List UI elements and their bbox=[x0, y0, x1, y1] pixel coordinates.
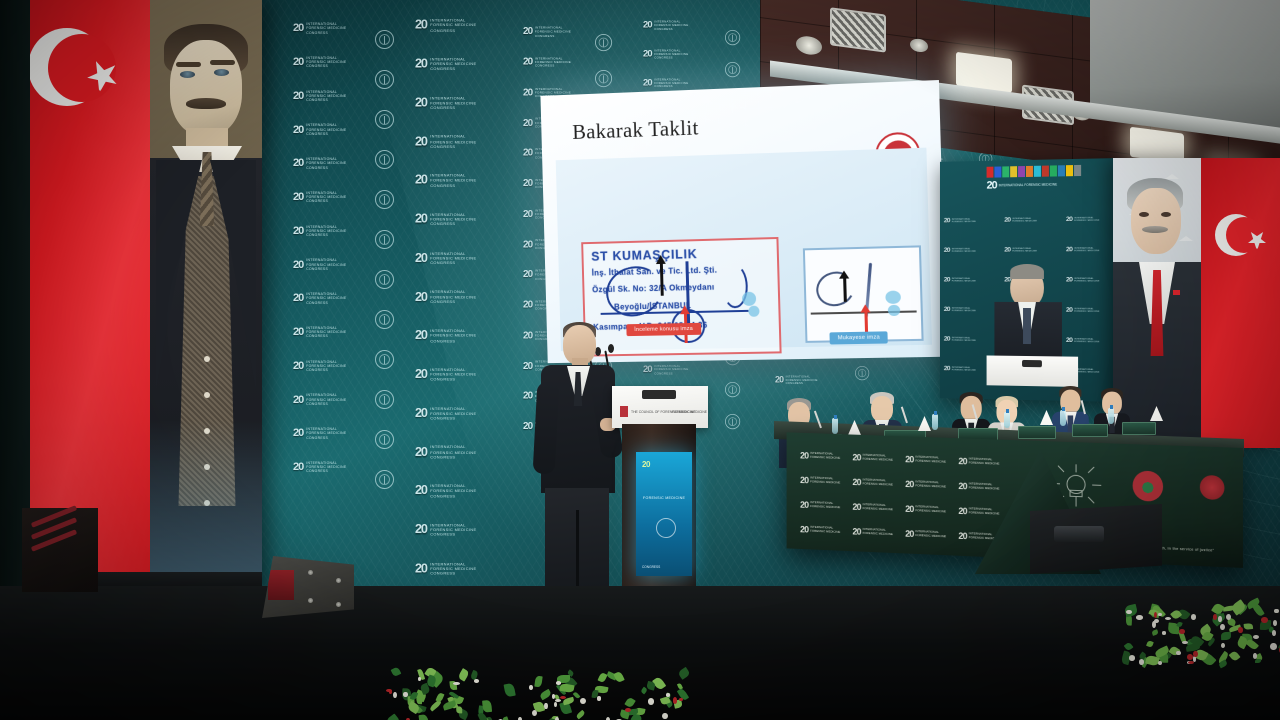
podium-display-number: 20 bbox=[642, 460, 650, 469]
flower-bud bbox=[1158, 613, 1162, 616]
logo-number: 20 bbox=[415, 407, 427, 421]
logo-text: INTERNATIONALFORENSIC MEDICINECONGRESS bbox=[306, 258, 346, 271]
panelist-nameplate bbox=[1122, 422, 1156, 435]
backdrop-seal-icon bbox=[375, 350, 394, 369]
logo-text: INTERNATIONALFORENSIC MEDICINECONGRESS bbox=[306, 56, 346, 69]
logo-text: INTERNATIONALFORENSIC MEDICINE bbox=[863, 454, 893, 462]
feed-backdrop-logo: 20INTERNATIONALFORENSIC MEDICINE bbox=[944, 276, 976, 283]
backdrop-congress-logo: 20INTERNATIONALFORENSIC MEDICINECONGRESS bbox=[415, 212, 476, 227]
logo-number: 20 bbox=[905, 529, 913, 539]
equipment-rack bbox=[22, 508, 98, 592]
flag-icon bbox=[1058, 165, 1065, 176]
monitor-bolt bbox=[308, 570, 313, 575]
signature-blob bbox=[748, 306, 759, 317]
podium-lectern-top: THE COUNCIL OF FORENSIC MEDICINE FORENSI… bbox=[612, 386, 708, 428]
foliage-leaf bbox=[442, 700, 456, 710]
logo-number: 20 bbox=[293, 90, 303, 102]
table-congress-logo: 20INTERNATIONALFORENSIC MEDICINE bbox=[852, 452, 892, 463]
floral-arrangement-left bbox=[380, 664, 680, 720]
logo-text: INTERNATIONALFORENSIC MEDICINECONGRESS bbox=[306, 225, 346, 238]
logo-number: 20 bbox=[293, 259, 303, 271]
logo-number: 20 bbox=[800, 500, 808, 510]
signature-blob bbox=[742, 292, 756, 306]
panelist-nameplate bbox=[1072, 424, 1108, 437]
logo-number: 20 bbox=[293, 360, 303, 372]
logo-number: 20 bbox=[293, 394, 303, 406]
feed-backdrop-logo: 20INTERNATIONALFORENSIC MEDICINE bbox=[1066, 276, 1100, 284]
logo-number: 20 bbox=[415, 523, 427, 537]
backdrop-seal-icon bbox=[375, 30, 394, 49]
logo-number: 20 bbox=[523, 148, 532, 159]
table-congress-logo: 20INTERNATIONALFORENSIC MEDICINE bbox=[958, 481, 999, 493]
portrait-eye bbox=[214, 69, 229, 76]
logo-number: 20 bbox=[958, 531, 966, 541]
foliage-leaf bbox=[1255, 659, 1261, 663]
foliage-leaf bbox=[573, 691, 581, 699]
backdrop-seal-icon bbox=[375, 430, 394, 449]
logo-number: 20 bbox=[293, 326, 303, 338]
flag-lapel-pin-icon bbox=[1173, 290, 1180, 295]
flower-bud bbox=[1270, 643, 1276, 650]
logo-number: 20 bbox=[1066, 276, 1072, 284]
water-bottle bbox=[832, 418, 838, 434]
water-bottle bbox=[1060, 410, 1066, 426]
backdrop-congress-logo: 20INTERNATIONALFORENSIC MEDICINECONGRESS bbox=[643, 20, 688, 31]
logo-text: INTERNATIONALFORENSIC MEDICINECONGRESS bbox=[430, 523, 476, 538]
logo-text: INTERNATIONALFORENSIC MEDICINECONGRESS bbox=[430, 57, 476, 72]
backdrop-congress-logo: 20INTERNATIONALFORENSIC MEDICINECONGRESS bbox=[415, 367, 476, 382]
foliage-leaf bbox=[482, 700, 492, 713]
table-congress-logo: 20INTERNATIONALFORENSIC MEDICINE bbox=[905, 454, 946, 465]
table-congress-logo: 20INTERNATIONALFORENSIC MEDICINE bbox=[958, 506, 999, 518]
logo-text: INTERNATIONALFORENSIC MEDICINECONGRESS bbox=[430, 290, 476, 305]
portrait-button bbox=[204, 392, 210, 398]
backdrop-seal-icon bbox=[375, 310, 394, 329]
foliage-leaf bbox=[640, 687, 648, 695]
logo-number: 20 bbox=[415, 251, 427, 265]
logo-number: 20 bbox=[775, 375, 783, 385]
flag-icon bbox=[1018, 166, 1025, 177]
logo-number: 20 bbox=[523, 391, 532, 402]
black-arrow-head-icon bbox=[839, 270, 849, 278]
logo-text: INTERNATIONALFORENSIC MEDICINECONGRESS bbox=[430, 173, 476, 188]
logo-number: 20 bbox=[800, 475, 808, 485]
backdrop-seal-icon bbox=[375, 110, 394, 129]
flower-bud bbox=[1226, 614, 1231, 620]
live-feed-screen: 20 INTERNATIONAL FORENSIC MEDICINE 20INT… bbox=[940, 158, 1115, 402]
star-icon bbox=[1248, 236, 1266, 243]
flower-bud bbox=[1187, 654, 1193, 660]
monitor-bolt bbox=[308, 598, 313, 603]
council-emblem-icon bbox=[1133, 470, 1163, 501]
foliage-leaf bbox=[613, 671, 625, 683]
flower-bud bbox=[418, 677, 421, 682]
flower-bud bbox=[1274, 609, 1279, 614]
conference-hall-scene: 20INTERNATIONALFORENSIC MEDICINECONGRESS… bbox=[0, 0, 1280, 720]
logo-number: 20 bbox=[944, 306, 950, 313]
flower-bud bbox=[1253, 635, 1260, 640]
flower-bud bbox=[1253, 653, 1257, 659]
flower-bud bbox=[1154, 619, 1159, 624]
flag-icon bbox=[1074, 165, 1081, 176]
ataturk-portrait bbox=[150, 0, 262, 600]
water-bottle bbox=[1108, 408, 1114, 424]
water-bottle bbox=[1004, 412, 1010, 428]
logo-text: INTERNATIONALFORENSIC MEDICINECONGRESS bbox=[306, 22, 346, 35]
logo-text: INTERNATIONALFORENSIC MEDICINE bbox=[810, 526, 840, 534]
logo-number: 20 bbox=[415, 18, 427, 32]
logo-text: INTERNATIONALFORENSIC MEDICINECONGRESS bbox=[654, 20, 688, 31]
logo-number: 20 bbox=[523, 178, 532, 189]
logo-number: 20 bbox=[415, 329, 427, 343]
red-arrow-annotation bbox=[864, 311, 868, 331]
black-arrow-head-icon bbox=[656, 255, 666, 264]
foliage-leaf bbox=[1152, 629, 1159, 636]
panelist-head bbox=[871, 396, 893, 422]
logo-text: INTERNATIONALFORENSIC MEDICINE bbox=[952, 366, 976, 372]
logo-text: INTERNATIONALFORENSIC MEDICINECONGRESS bbox=[306, 90, 346, 103]
flower-bud bbox=[1129, 655, 1136, 661]
backdrop-seal-icon bbox=[375, 390, 394, 409]
logo-text: INTERNATIONALFORENSIC MEDICINECONGRESS bbox=[535, 26, 571, 37]
president-moustache bbox=[1142, 226, 1168, 233]
logo-number: 20 bbox=[800, 524, 808, 534]
feed-backdrop-logo: 20INTERNATIONALFORENSIC MEDICINE bbox=[1004, 216, 1037, 224]
logo-number: 20 bbox=[523, 57, 532, 68]
logo-text: INTERNATIONALFORENSIC MEDICINE bbox=[1012, 247, 1037, 252]
logo-number: 20 bbox=[415, 290, 427, 304]
logo-text: INTERNATIONALFORENSIC MEDICINE bbox=[1074, 307, 1099, 312]
logo-number: 20 bbox=[1066, 306, 1072, 314]
logo-number: 20 bbox=[852, 477, 860, 487]
logo-number: 20 bbox=[523, 87, 532, 98]
backdrop-congress-logo: 20INTERNATIONALFORENSIC MEDICINECONGRESS bbox=[415, 96, 476, 111]
logo-number: 20 bbox=[415, 57, 427, 71]
logo-number: 20 bbox=[415, 96, 427, 110]
backdrop-congress-logo: 20INTERNATIONALFORENSIC MEDICINECONGRESS bbox=[643, 77, 688, 88]
feed-backdrop-logo: 20INTERNATIONALFORENSIC MEDICINE bbox=[944, 217, 976, 225]
flower-bud bbox=[1158, 661, 1162, 665]
logo-text: INTERNATIONALFORENSIC MEDICINECONGRESS bbox=[430, 445, 476, 460]
table-congress-logo: 20INTERNATIONALFORENSIC MEDICINE bbox=[905, 479, 946, 490]
logo-number: 20 bbox=[852, 502, 860, 512]
flower-bud bbox=[673, 697, 678, 704]
foliage-leaf bbox=[539, 689, 552, 701]
logo-number: 20 bbox=[958, 506, 966, 516]
feed-speaker-tie bbox=[1023, 308, 1031, 344]
logo-text: INTERNATIONALFORENSIC MEDICINE bbox=[810, 477, 840, 485]
backdrop-congress-logo: 20INTERNATIONALFORENSIC MEDICINECONGRESS bbox=[415, 18, 476, 33]
feed-backdrop-logo: 20INTERNATIONALFORENSIC MEDICINE bbox=[944, 365, 976, 373]
stage-monitor-left bbox=[262, 556, 354, 618]
podium-nameplate bbox=[642, 390, 676, 399]
backdrop-congress-logo: 20INTERNATIONALFORENSIC MEDICINECONGRESS bbox=[293, 90, 346, 103]
flower-bud bbox=[1126, 610, 1132, 614]
backdrop-congress-logo: 20INTERNATIONALFORENSIC MEDICINECONGRESS bbox=[415, 484, 476, 499]
logo-number: 20 bbox=[643, 365, 652, 375]
logo-number: 20 bbox=[415, 212, 427, 226]
right-banner-president bbox=[1113, 158, 1280, 448]
backdrop-congress-logo: 20INTERNATIONALFORENSIC MEDICINECONGRESS bbox=[415, 445, 476, 460]
feed-congress-logo: 20 INTERNATIONAL FORENSIC MEDICINE bbox=[987, 164, 1107, 212]
logo-text: INTERNATIONALFORENSIC MEDICINE bbox=[810, 502, 840, 510]
monitor-grille bbox=[268, 570, 294, 600]
monitor-bolt bbox=[336, 578, 341, 583]
flag-icon bbox=[1042, 166, 1049, 177]
feed-backdrop-logo: 20INTERNATIONALFORENSIC MEDICINE bbox=[1066, 306, 1100, 314]
ceiling-vent-icon bbox=[830, 7, 886, 52]
foliage-leaf bbox=[418, 714, 429, 720]
flower-bud bbox=[1218, 616, 1221, 621]
flower-bud bbox=[1176, 651, 1180, 655]
logo-number: 20 bbox=[958, 481, 966, 491]
portrait-brow bbox=[210, 60, 235, 65]
logo-text: INTERNATIONALFORENSIC MEDICINECONGRESS bbox=[430, 134, 476, 149]
backdrop-congress-logo: 20INTERNATIONALFORENSIC MEDICINECONGRESS bbox=[293, 157, 346, 170]
logo-number: 20 bbox=[1066, 336, 1072, 344]
backdrop-congress-logo: 20INTERNATIONALFORENSIC MEDICINECONGRESS bbox=[415, 561, 476, 576]
slide-body: ST KUMAŞÇILIK İnş. İthalat San. ve Tic. … bbox=[556, 148, 932, 352]
flower-bud bbox=[529, 685, 533, 689]
logo-number: 20 bbox=[523, 421, 532, 432]
logo-number: 20 bbox=[1004, 216, 1010, 223]
logo-text: INTERNATIONALFORENSIC MEDICINECONGRESS bbox=[306, 157, 346, 170]
ministry-emblem-icon bbox=[1200, 475, 1225, 500]
logo-number: 20 bbox=[643, 20, 652, 30]
logo-text: INTERNATIONALFORENSIC MEDICINECONGRESS bbox=[306, 292, 346, 305]
feed-logo-number: 20 bbox=[987, 180, 997, 192]
logo-text: INTERNATIONALFORENSIC MEDICINE bbox=[915, 530, 946, 538]
backdrop-seal-icon bbox=[725, 30, 740, 45]
podium-display-text: FORENSIC MEDICINE bbox=[643, 496, 685, 500]
microphone-head-icon bbox=[608, 344, 614, 353]
logo-text: INTERNATIONALFORENSIC MEDICINECONGRESS bbox=[430, 484, 476, 499]
backdrop-congress-logo: 20INTERNATIONALFORENSIC MEDICINECONGRESS bbox=[415, 134, 476, 149]
logo-text: INTERNATIONALFORENSIC MEDICINE bbox=[863, 479, 893, 487]
foliage-leaf bbox=[435, 692, 444, 703]
backdrop-congress-logo: 20INTERNATIONALFORENSIC MEDICINECONGRESS bbox=[293, 258, 346, 271]
table-congress-logo: 20INTERNATIONALFORENSIC MEDICINE bbox=[800, 450, 840, 461]
logo-text: INTERNATIONALFORENSIC MEDICINECONGRESS bbox=[654, 49, 688, 60]
presentation-slide: Bakarak Taklit ST KUMAŞÇILIK İnş. İthala… bbox=[540, 80, 946, 363]
flag-icon bbox=[1002, 166, 1009, 177]
table-congress-logo: 20INTERNATIONALFORENSIC MEDICINE bbox=[800, 500, 840, 511]
logo-text: INTERNATIONALFORENSIC MEDICINECONGRESS bbox=[306, 393, 346, 406]
logo-text: INTERNATIONALFORENSIC MEDICINE bbox=[952, 247, 976, 252]
flag-icon bbox=[1010, 166, 1017, 177]
turkish-flag-icon bbox=[1201, 158, 1280, 448]
foliage-leaf bbox=[1221, 632, 1231, 640]
logo-text: INTERNATIONALFORENSIC MEDICINECONGRESS bbox=[306, 461, 346, 474]
backdrop-seal-icon bbox=[375, 230, 394, 249]
backdrop-logo-column: 20INTERNATIONALFORENSIC MEDICINECONGRESS… bbox=[293, 22, 346, 474]
backdrop-logo-column: 20INTERNATIONALFORENSIC MEDICINECONGRESS… bbox=[415, 18, 476, 576]
logo-number: 20 bbox=[523, 330, 532, 341]
logo-text: INTERNATIONALFORENSIC MEDICINE bbox=[915, 506, 946, 514]
logo-text: INTERNATIONALFORENSIC MEDICINECONGRESS bbox=[430, 561, 476, 576]
feed-backdrop-logo: 20INTERNATIONALFORENSIC MEDICINE bbox=[944, 246, 976, 254]
backdrop-seal-icon bbox=[725, 62, 740, 77]
flower-bud bbox=[474, 679, 480, 683]
flower-bud bbox=[386, 689, 392, 692]
logo-text: INTERNATIONALFORENSIC MEDICINE bbox=[1074, 277, 1099, 282]
flower-bud bbox=[1188, 661, 1194, 664]
backdrop-congress-logo: 20INTERNATIONALFORENSIC MEDICINECONGRESS bbox=[293, 427, 346, 440]
water-bottle bbox=[932, 414, 938, 430]
logo-number: 20 bbox=[523, 26, 532, 37]
backdrop-congress-logo: 20INTERNATIONALFORENSIC MEDICINECONGRESS bbox=[293, 56, 346, 69]
podium-emblem-icon bbox=[620, 406, 628, 417]
logo-number: 20 bbox=[415, 445, 427, 459]
backdrop-seal-icon bbox=[375, 270, 394, 289]
feed-backdrop-logo: 20INTERNATIONALFORENSIC MEDICINE bbox=[1004, 246, 1037, 254]
logo-text: INTERNATIONALFORENSIC MEDICINE bbox=[952, 218, 976, 223]
foliage-leaf bbox=[503, 682, 516, 697]
flower-bud bbox=[1162, 631, 1167, 635]
flower-bud bbox=[648, 698, 654, 704]
stamp-company: ST KUMAŞÇILIK bbox=[591, 247, 698, 264]
logo-number: 20 bbox=[415, 368, 427, 382]
monitor-port bbox=[1054, 526, 1104, 542]
logo-text: INTERNATIONALFORENSIC MEDICINECONGRESS bbox=[430, 406, 476, 421]
backdrop-congress-logo: 20INTERNATIONALFORENSIC MEDICINECONGRESS bbox=[415, 57, 476, 72]
backdrop-logo-column bbox=[375, 30, 394, 489]
logo-text: INTERNATIONALFORENSIC MEDICINECONGRESS bbox=[535, 56, 571, 67]
logo-number: 20 bbox=[293, 427, 303, 439]
logo-text: INTERNATIONALFORENSIC MEDICINE bbox=[1074, 338, 1099, 344]
flower-bud bbox=[1220, 624, 1225, 631]
flower-bud bbox=[554, 702, 557, 707]
logo-number: 20 bbox=[293, 191, 303, 203]
backdrop-congress-logo: 20INTERNATIONALFORENSIC MEDICINECONGRESS bbox=[775, 375, 818, 385]
logo-number: 20 bbox=[523, 269, 532, 280]
foliage-leaf bbox=[391, 667, 402, 678]
logo-number: 20 bbox=[643, 49, 652, 59]
logo-number: 20 bbox=[800, 450, 808, 460]
flower-bud bbox=[1154, 612, 1157, 619]
logo-number: 20 bbox=[523, 300, 532, 311]
feed-backdrop-logo: 20INTERNATIONALFORENSIC MEDICINE bbox=[1066, 246, 1100, 254]
feed-backdrop-logo: 20INTERNATIONALFORENSIC MEDICINE bbox=[1066, 336, 1100, 344]
foliage-leaf bbox=[458, 668, 470, 681]
speaker-leg-split bbox=[576, 510, 579, 594]
red-arrow-head-icon bbox=[860, 304, 870, 312]
logo-number: 20 bbox=[905, 454, 913, 464]
logo-number: 20 bbox=[415, 484, 427, 498]
logo-number: 20 bbox=[905, 479, 913, 489]
feed-backdrop-logo: 20INTERNATIONALFORENSIC MEDICINE bbox=[1066, 215, 1100, 223]
crescent-icon bbox=[28, 28, 106, 106]
logo-text: INTERNATIONALFORENSIC MEDICINECONGRESS bbox=[306, 191, 346, 204]
table-congress-logo: 20INTERNATIONALFORENSIC MEDICINE bbox=[905, 529, 946, 541]
table-congress-logo: 20INTERNATIONALFORENSIC MEDICINE bbox=[800, 524, 840, 536]
flag-icon bbox=[994, 166, 1001, 177]
flower-bud bbox=[662, 713, 668, 719]
backdrop-congress-logo: 20INTERNATIONALFORENSIC MEDICINECONGRESS bbox=[293, 326, 346, 339]
logo-text: INTERNATIONALFORENSIC MEDICINE bbox=[915, 456, 946, 464]
logo-number: 20 bbox=[852, 452, 860, 462]
backdrop-congress-logo: 20INTERNATIONALFORENSIC MEDICINECONGRESS bbox=[415, 329, 476, 344]
flower-bud bbox=[597, 696, 601, 700]
logo-text: INTERNATIONALFORENSIC MEDICINECONGRESS bbox=[654, 77, 688, 88]
logo-text: INTERNATIONALFORENSIC MEDICINECONGRESS bbox=[306, 326, 346, 339]
backdrop-congress-logo: 20INTERNATIONALFORENSIC MEDICINECONGRESS bbox=[643, 49, 688, 60]
logo-text: INTERNATIONALFORENSIC MEDICINECONGRESS bbox=[430, 329, 476, 344]
logo-number: 20 bbox=[1004, 246, 1010, 253]
backdrop-seal-icon bbox=[725, 414, 740, 429]
backdrop-congress-logo: 20INTERNATIONALFORENSIC MEDICINECONGRESS bbox=[643, 364, 688, 375]
logo-number: 20 bbox=[293, 225, 303, 237]
logo-text: INTERNATIONALFORENSIC MEDICINE bbox=[952, 336, 976, 341]
logo-text: INTERNATIONALFORENSIC MEDICINE bbox=[915, 481, 946, 489]
president-eye bbox=[1161, 212, 1171, 217]
table-congress-logo: 20INTERNATIONALFORENSIC MEDICINE bbox=[958, 456, 999, 467]
label-questioned-signature: İnceleme konusu imza bbox=[626, 323, 701, 336]
logo-number: 20 bbox=[523, 117, 532, 128]
logo-number: 20 bbox=[852, 526, 860, 536]
logo-number: 20 bbox=[523, 209, 532, 220]
flag-icon bbox=[1050, 165, 1057, 176]
logo-number: 20 bbox=[1066, 246, 1072, 254]
flower-bud bbox=[1193, 651, 1197, 657]
reference-loop-stroke bbox=[812, 267, 859, 311]
logo-text: INTERNATIONALFORENSIC MEDICINE bbox=[952, 277, 976, 282]
logo-text: INTERNATIONALFORENSIC MEDICINE bbox=[810, 452, 840, 460]
backdrop-seal-icon bbox=[855, 366, 869, 380]
logo-text: INTERNATIONALFORENSIC MEDICINECONGRESS bbox=[430, 96, 476, 111]
logo-number: 20 bbox=[944, 276, 950, 283]
logo-number: 20 bbox=[293, 292, 303, 304]
flag-row-icon bbox=[987, 164, 1107, 177]
portrait-face bbox=[170, 40, 242, 136]
logo-text: INTERNATIONALFORENSIC MEDICINE bbox=[969, 483, 1000, 491]
portrait-moustache bbox=[186, 98, 226, 109]
logo-text: INTERNATIONALFORENSIC MEDICINECONGRESS bbox=[306, 123, 346, 136]
black-arrow-annotation bbox=[843, 278, 847, 302]
backdrop-congress-logo: 20INTERNATIONALFORENSIC MEDICINECONGRESS bbox=[293, 292, 346, 305]
logo-number: 20 bbox=[523, 239, 532, 250]
logo-text: INTERNATIONALFORENSIC MEDICINECONGRESS bbox=[430, 367, 476, 382]
portrait-button bbox=[204, 356, 210, 362]
logo-text: INTERNATIONALFORENSIC MEDICINECONGRESS bbox=[430, 212, 476, 227]
flower-bud bbox=[1213, 614, 1217, 620]
flower-bud bbox=[1238, 627, 1243, 633]
flag-icon bbox=[1066, 165, 1073, 176]
backdrop-congress-logo: 20INTERNATIONALFORENSIC MEDICINECONGRESS bbox=[523, 56, 571, 67]
logo-text: INTERNATIONALFORENSIC MEDICINECONGRESS bbox=[306, 427, 346, 440]
table-congress-logo: 20INTERNATIONALFORENSIC MEDICINE bbox=[905, 504, 946, 516]
reference-signature-box bbox=[803, 245, 924, 343]
backdrop-seal-icon bbox=[595, 70, 612, 87]
stage-monitor-right bbox=[1030, 504, 1162, 574]
logo-text: INTERNATIONALFORENSIC MEDICINE bbox=[1074, 247, 1099, 252]
reference-blob bbox=[885, 291, 901, 304]
flower-bud bbox=[544, 703, 547, 710]
logo-text: INTERNATIONALFORENSIC MEDICINE bbox=[952, 307, 976, 312]
backdrop-seal-icon bbox=[725, 382, 740, 397]
podium-congress-text: FORENSIC MEDICINE bbox=[672, 410, 707, 414]
backdrop-congress-logo: 20INTERNATIONALFORENSIC MEDICINECONGRESS bbox=[293, 393, 346, 406]
logo-number: 20 bbox=[293, 157, 303, 169]
portrait-eye bbox=[180, 71, 195, 78]
feed-podium-plate bbox=[1022, 360, 1042, 367]
logo-number: 20 bbox=[293, 56, 303, 68]
backdrop-congress-logo: 20INTERNATIONALFORENSIC MEDICINECONGRESS bbox=[415, 173, 476, 188]
backdrop-congress-logo: 20INTERNATIONALFORENSIC MEDICINECONGRESS bbox=[415, 251, 476, 266]
logo-text: INTERNATIONALFORENSIC MEDICINE bbox=[863, 504, 893, 512]
foliage-leaf bbox=[575, 709, 585, 719]
red-arrow-head-icon bbox=[680, 305, 690, 314]
